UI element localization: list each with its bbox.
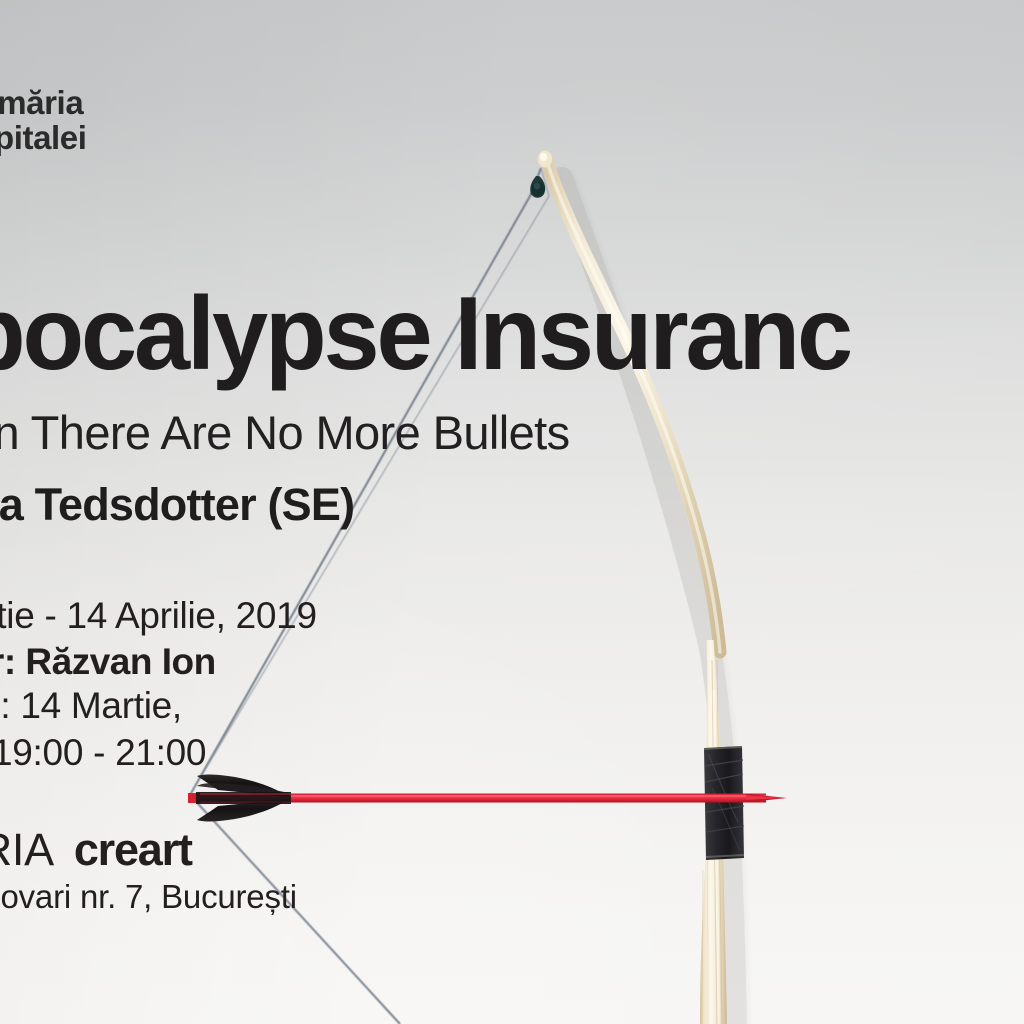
venue-address: Lahovari nr. 7, București <box>0 880 297 913</box>
venue-name: ERIAcreart <box>0 827 192 872</box>
exhibition-poster: rimăria apitalei pocalypse Insuranc en T… <box>0 0 1024 1024</box>
opening-line: saj: 14 Martie, <box>0 687 182 724</box>
curator-line: tor: Răzvan Ion <box>0 643 216 680</box>
bow-grip-tape <box>704 746 746 860</box>
exhibition-subtitle: en There Are No More Bullets <box>0 409 569 456</box>
primaria-capitalei-logo: rimăria apitalei <box>0 86 87 156</box>
venue-prefix: ERIA <box>0 824 54 875</box>
logo-line-1: rimăria <box>0 86 87 121</box>
exhibition-dates: artie - 14 Aprilie, 2019 <box>0 597 317 634</box>
opening-hours: 19:00 - 21:00 <box>0 734 206 771</box>
logo-line-2: apitalei <box>0 121 87 156</box>
bowstring-knot <box>530 176 545 198</box>
arrow-fletching <box>188 775 291 822</box>
venue-brand: creart <box>74 824 192 875</box>
artist-name: da Tedsdotter (SE) <box>0 482 354 527</box>
exhibition-title: pocalypse Insuranc <box>0 282 850 386</box>
